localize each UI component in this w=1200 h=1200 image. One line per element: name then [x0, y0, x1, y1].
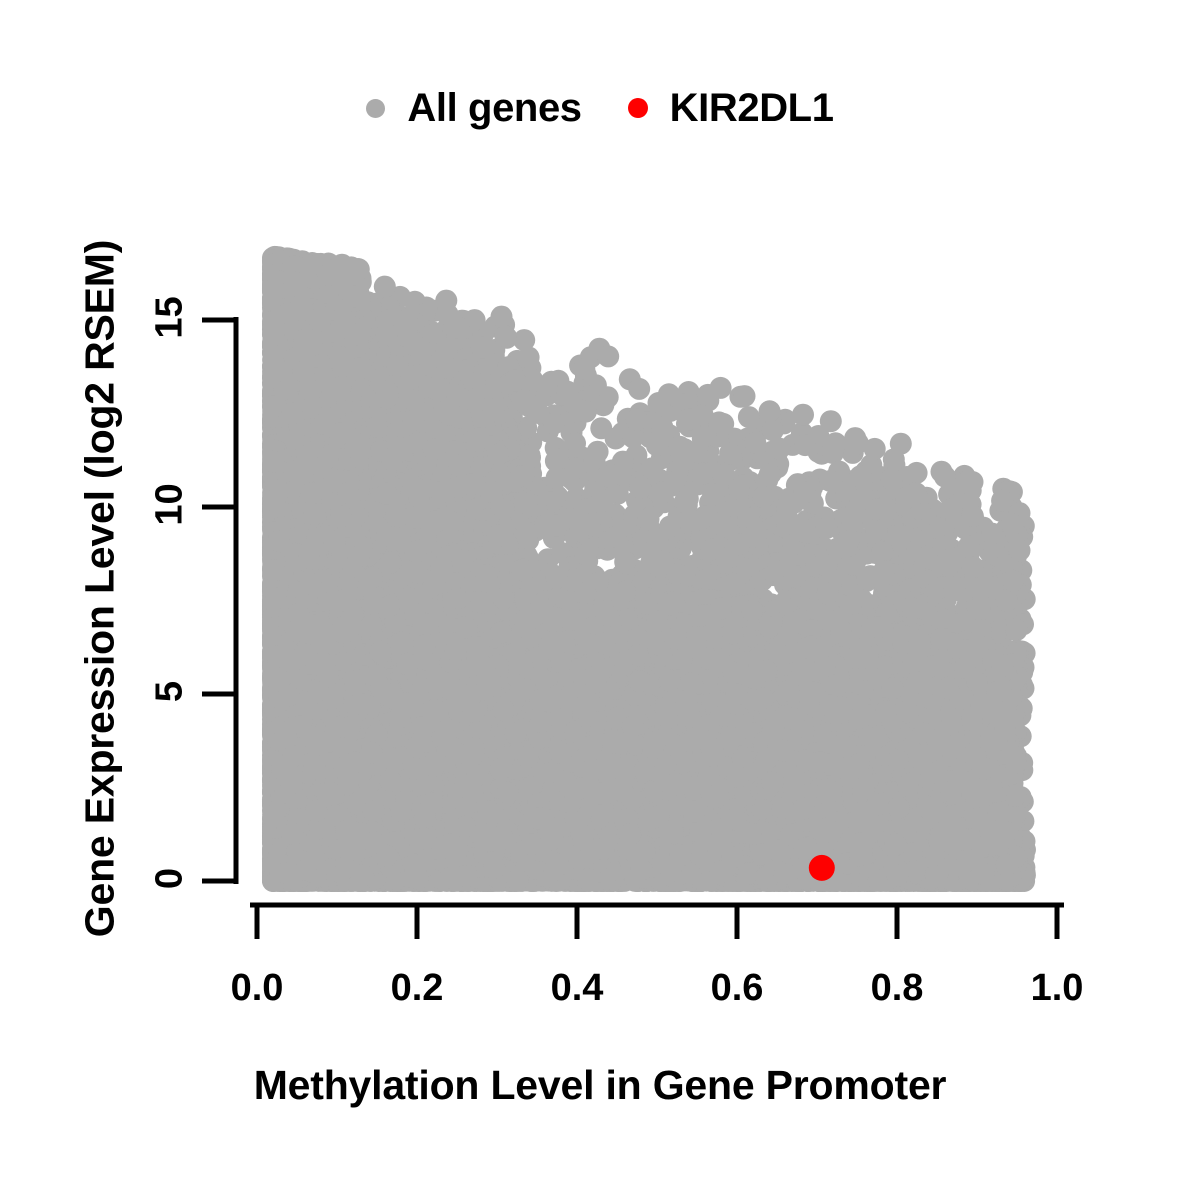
scatter-plot-figure: All genes KIR2DL1 Methylation Level in G… — [0, 0, 1200, 1200]
scatter-canvas — [0, 0, 1200, 1200]
y-tick-label: 5 — [149, 662, 192, 722]
y-tick-label: 15 — [149, 288, 192, 348]
x-tick-label: 0.2 — [391, 967, 444, 1010]
x-tick-label: 0.6 — [711, 967, 764, 1010]
x-tick-label: 0.4 — [551, 967, 604, 1010]
x-tick-label: 0.0 — [231, 967, 284, 1010]
plot-area — [0, 0, 1200, 1200]
kir2dl1-highlight-point[interactable] — [809, 855, 835, 881]
all-genes-points — [262, 246, 1036, 892]
y-tick-label: 0 — [149, 849, 192, 909]
x-axis-label: Methylation Level in Gene Promoter — [0, 1062, 1200, 1109]
x-tick-label: 1.0 — [1031, 967, 1084, 1010]
x-tick-label: 0.8 — [871, 967, 924, 1010]
y-tick-label: 10 — [149, 475, 192, 535]
